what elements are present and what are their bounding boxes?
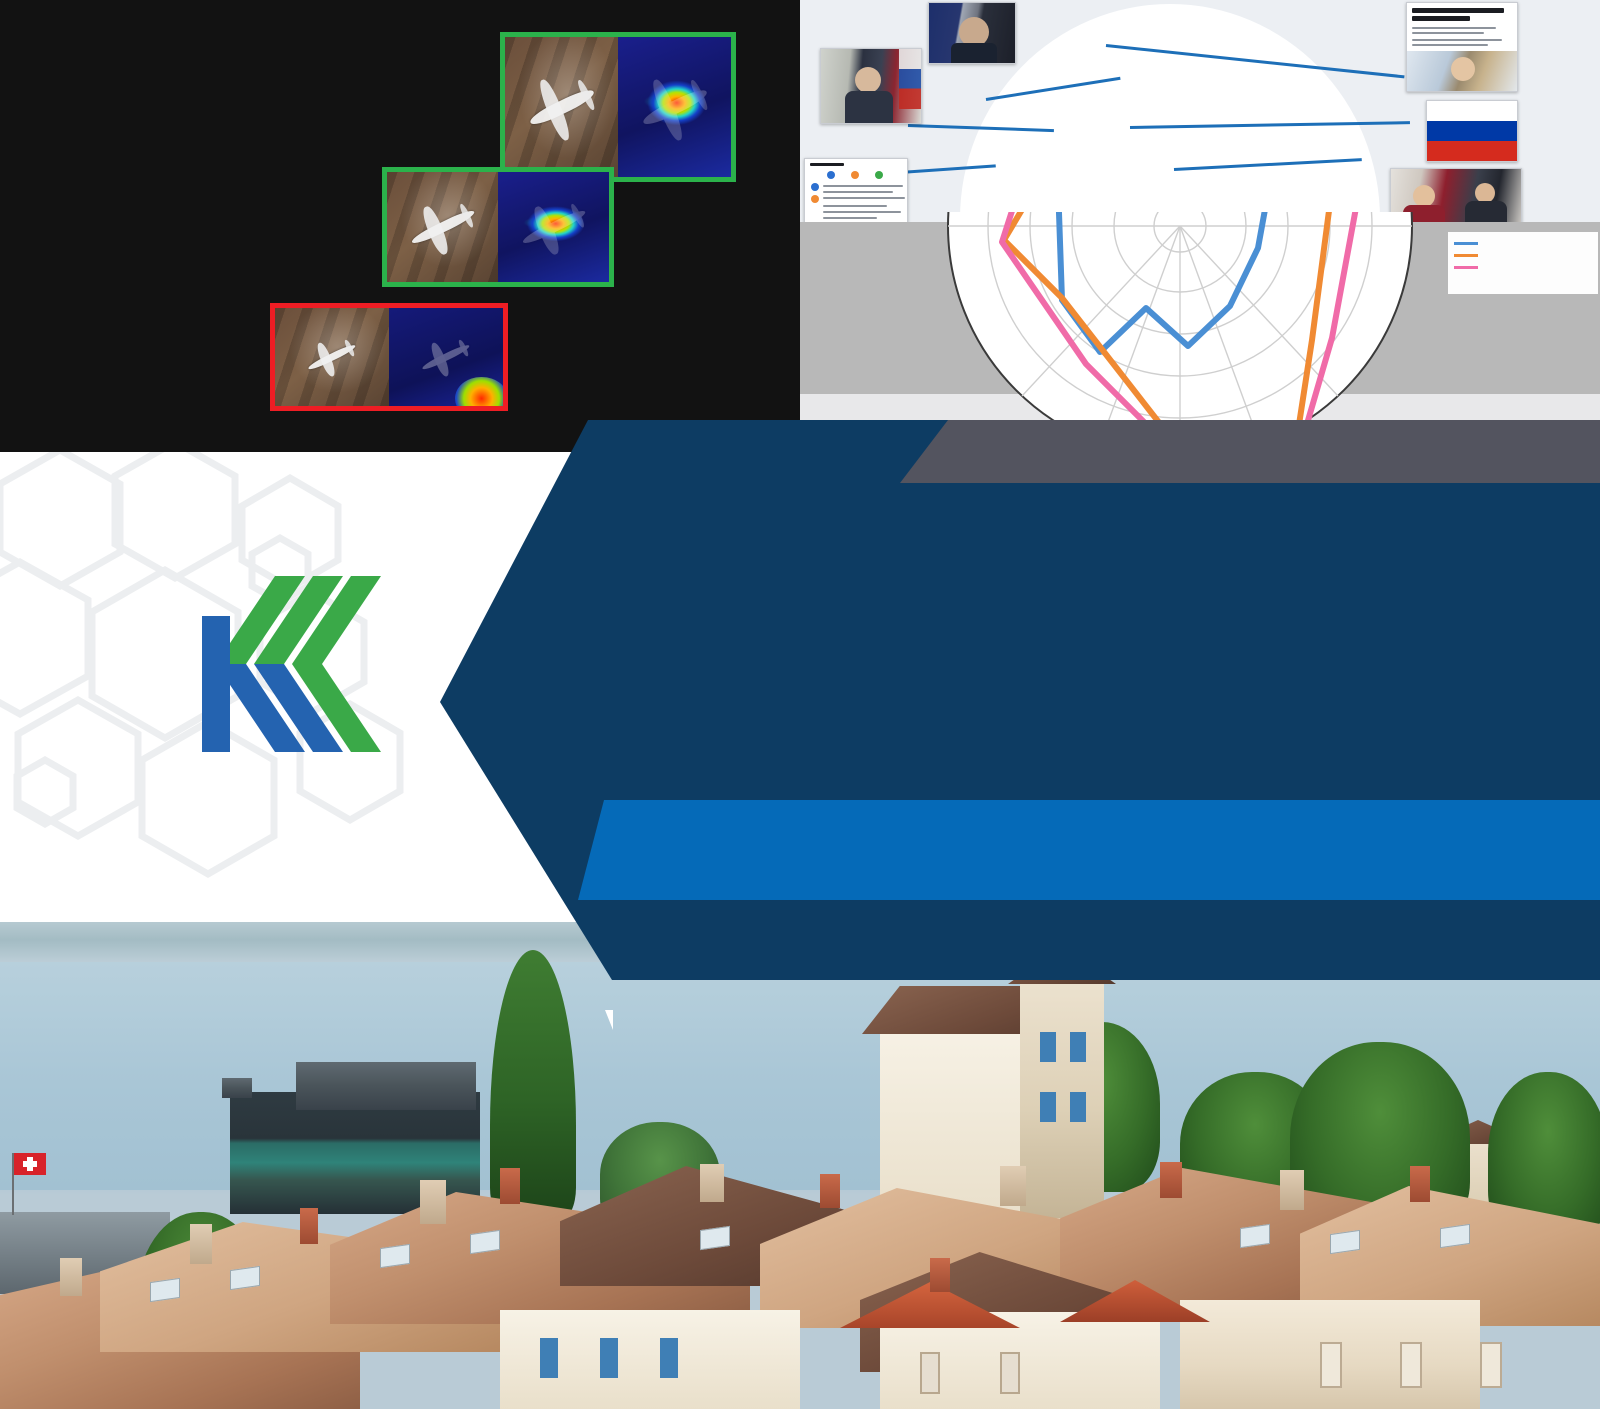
detection-heatmap-patch	[389, 308, 503, 406]
detection-rgb-patch	[275, 308, 389, 406]
conference-dates-bar	[578, 800, 1600, 900]
russian-flag-callout	[1426, 100, 1518, 162]
radar-chart-legend	[1448, 232, 1598, 294]
location-bar	[900, 420, 1600, 483]
detection-card-true-positive-1	[500, 32, 736, 182]
legend-row-aligned	[1454, 248, 1592, 257]
legend-row-aligned-self-consistency	[1454, 260, 1592, 269]
legend-row-unaligned	[1454, 236, 1592, 245]
lavrov-photo-callout	[928, 2, 1016, 64]
sailboat	[596, 1010, 614, 1036]
flag-stripe-blue	[1427, 121, 1517, 141]
detection-heatmap-patch	[498, 172, 609, 282]
detection-rgb-patch	[505, 37, 618, 177]
network-legend-callout	[804, 158, 908, 222]
flag-stripe-white	[1427, 101, 1517, 121]
document-cluster-network	[960, 4, 1380, 222]
conference-promo-poster	[0, 0, 1600, 1409]
merkel-news-callout	[1406, 2, 1518, 92]
lausanne-cityscape-photo	[0, 922, 1600, 1409]
network-figure-area	[800, 0, 1600, 222]
flag-stripe-red	[1427, 141, 1517, 161]
detection-card-true-positive-2	[382, 167, 614, 287]
legend-swatch-unaligned	[1454, 242, 1478, 245]
swiss-flag	[14, 1153, 46, 1175]
detection-heatmap-patch	[618, 37, 731, 177]
aerial-detection-mosaic	[0, 0, 800, 452]
dark-rooftop-block	[296, 1062, 476, 1110]
putin-photo-callout	[820, 48, 922, 124]
legend-swatch-aligned	[1454, 254, 1478, 257]
rooftop-cluster	[0, 1162, 1600, 1409]
detection-rgb-patch	[387, 172, 498, 282]
rooftop-unit	[222, 1078, 252, 1098]
detection-card-false-negative	[270, 303, 508, 411]
kitware-chevron-logo	[120, 552, 420, 772]
legend-swatch-aligned-self-consistency	[1454, 266, 1478, 269]
